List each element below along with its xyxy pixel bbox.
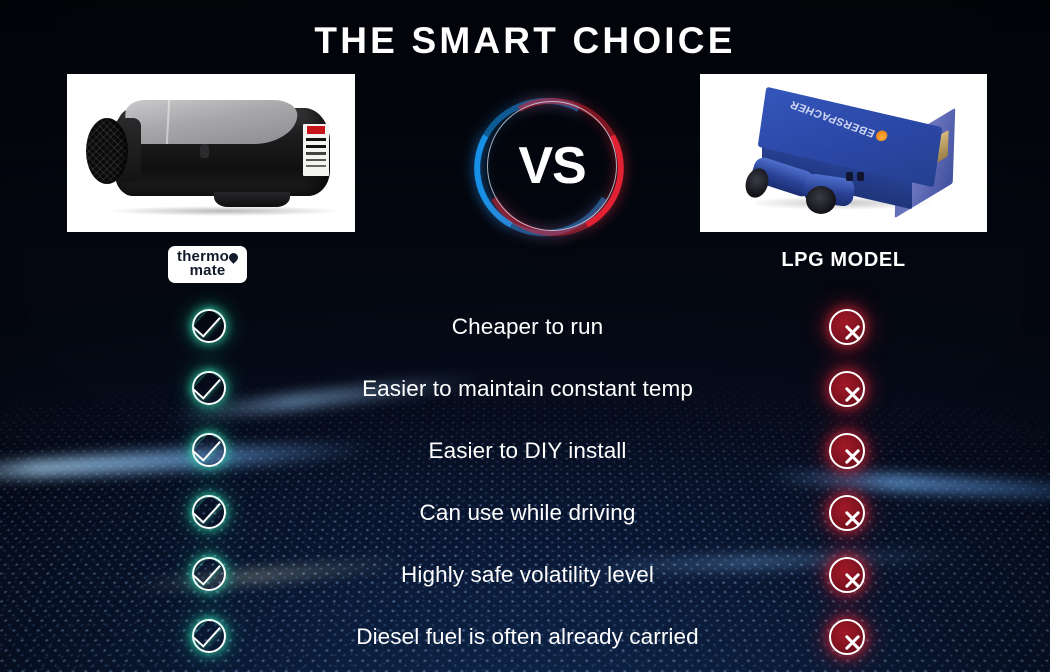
heater-spec-label <box>303 124 329 176</box>
check-circle-icon <box>188 491 232 535</box>
cross-disc <box>829 433 865 469</box>
table-row: Highly safe volatility level <box>0 544 1050 606</box>
infographic-canvas: THE SMART CHOICE <box>0 0 1050 672</box>
check-circle-icon <box>188 553 232 597</box>
vs-label: VS <box>487 101 617 231</box>
feature-label: Can use while driving <box>255 500 800 526</box>
heater-mesh-outlet <box>86 118 128 184</box>
brand-line-2: mate <box>177 263 238 278</box>
cross-circle-icon <box>826 492 868 534</box>
product-image-right: EBERSPACHER <box>700 74 987 232</box>
feature-label: Highly safe volatility level <box>255 562 800 588</box>
label-line <box>306 138 326 141</box>
lpg-heater-illustration: EBERSPACHER <box>700 74 987 232</box>
label-line <box>306 165 326 167</box>
cross-circle-icon <box>826 368 868 410</box>
flame-icon <box>227 251 240 264</box>
brand-logo-mark <box>307 126 325 134</box>
table-row: Can use while driving <box>0 482 1050 544</box>
check-circle-icon <box>188 367 232 411</box>
product-image-left <box>67 74 355 232</box>
cross-disc <box>829 619 865 655</box>
product-shadow <box>107 206 342 216</box>
cross-circle-icon <box>826 616 868 658</box>
comparison-table: Cheaper to run Easier to maintain consta… <box>0 296 1050 668</box>
check-circle-icon <box>188 429 232 473</box>
label-line <box>306 152 326 155</box>
brand-label-lpg: LPG MODEL <box>700 249 987 272</box>
table-row: Easier to DIY install <box>0 420 1050 482</box>
heater-top-cover <box>124 100 298 144</box>
heater-button <box>200 144 209 158</box>
feature-label: Cheaper to run <box>255 314 800 340</box>
check-circle-icon <box>188 615 232 659</box>
table-row: Cheaper to run <box>0 296 1050 358</box>
heater-vent-group <box>846 172 870 181</box>
cross-circle-icon <box>826 306 868 348</box>
cross-circle-icon <box>826 554 868 596</box>
cross-disc <box>829 309 865 345</box>
diesel-heater-illustration <box>67 74 355 232</box>
vs-badge: VS <box>462 101 628 233</box>
feature-label: Easier to maintain constant temp <box>255 376 800 402</box>
heater-base-foot <box>214 192 290 207</box>
cross-disc <box>829 495 865 531</box>
label-line <box>306 145 326 148</box>
feature-label: Diesel fuel is often already carried <box>255 624 800 650</box>
table-row: Easier to maintain constant temp <box>0 358 1050 420</box>
heater-vent <box>857 172 864 181</box>
cross-circle-icon <box>826 430 868 472</box>
table-row: Diesel fuel is often already carried <box>0 606 1050 668</box>
cross-disc <box>829 557 865 593</box>
cross-disc <box>829 371 865 407</box>
heater-vent <box>846 172 853 181</box>
brand-badge-thermomate: thermo mate <box>168 246 247 283</box>
check-circle-icon <box>188 305 232 349</box>
feature-label: Easier to DIY install <box>255 438 800 464</box>
label-line <box>306 159 326 161</box>
page-title: THE SMART CHOICE <box>0 20 1050 62</box>
heater-pipe-cap <box>806 186 836 214</box>
